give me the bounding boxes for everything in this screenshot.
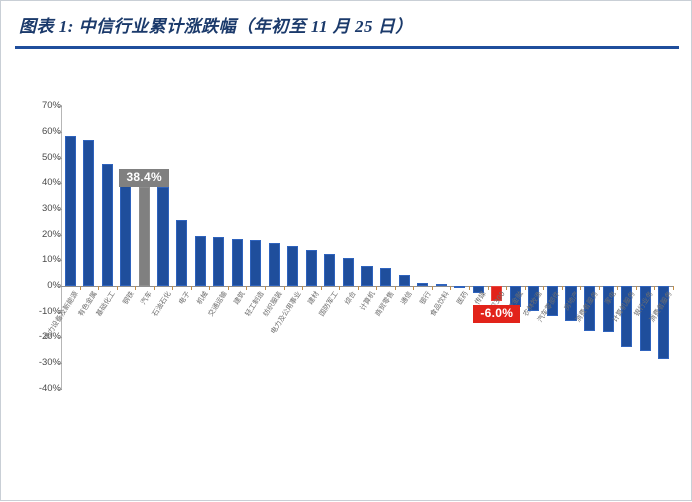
bar	[195, 236, 206, 286]
x-axis-tick-label: 医药	[455, 290, 469, 306]
bar	[454, 286, 465, 288]
x-axis-tick-label: 汽车	[140, 290, 154, 306]
bar	[324, 254, 335, 286]
annotation-red: -6.0%	[473, 305, 520, 323]
x-axis-tick-label: 钢铁	[121, 290, 135, 306]
bar	[157, 187, 168, 286]
bar	[361, 266, 372, 286]
bar-chart: 70%60%50%40%30%20%10%0%-10%-20%-30%-40% …	[1, 53, 692, 502]
x-axis-tick-label: 建筑	[233, 290, 247, 306]
bar	[269, 243, 280, 286]
figure-frame: 图表 1: 中信行业累计涨跌幅（年初至 11 月 25 日） 70%60%50%…	[0, 0, 692, 501]
bar	[176, 220, 187, 286]
x-axis-labels: 电力设备及新能源有色金属基础化工钢铁汽车石油石化电子机械交通运输建筑轻工制造纺织…	[1, 290, 692, 440]
bar	[287, 246, 298, 286]
bar	[380, 268, 391, 286]
x-axis-tick-label: 石油石化	[151, 290, 173, 318]
x-axis-tick-label: 电子	[177, 290, 191, 306]
bar	[436, 284, 447, 286]
bar	[250, 240, 261, 286]
bar	[83, 140, 94, 286]
bar	[306, 250, 317, 286]
page-title: 图表 1: 中信行业累计涨跌幅（年初至 11 月 25 日）	[19, 12, 413, 37]
bar	[102, 164, 113, 286]
annotation-gray: 38.4%	[119, 169, 169, 187]
x-axis-tick-label: 国防军工	[318, 290, 340, 318]
x-axis-tick-label: 家电	[603, 290, 617, 306]
bar	[139, 187, 150, 286]
title-divider	[15, 46, 679, 49]
bar	[399, 275, 410, 286]
x-axis-tick-label: 房地产	[563, 290, 581, 312]
x-axis-tick-label: 银行	[418, 290, 432, 306]
x-axis-tick-label: 计算机	[359, 290, 377, 312]
bar	[120, 186, 131, 286]
x-axis-tick-label: 电力设备及新能源	[43, 290, 80, 341]
figure-title-bar: 图表 1: 中信行业累计涨跌幅（年初至 11 月 25 日）	[1, 1, 692, 47]
x-axis-tick-label: 建材	[307, 290, 321, 306]
bar	[343, 258, 354, 286]
x-axis-tick-label: 综合	[344, 290, 358, 306]
x-axis-tick-label: 通信	[399, 290, 413, 306]
bar	[417, 283, 428, 286]
bar	[65, 136, 76, 286]
bar	[213, 237, 224, 286]
x-axis-tick-label: 传媒	[474, 290, 488, 306]
x-axis-tick-label: 机械	[195, 290, 209, 306]
bar	[232, 239, 243, 286]
